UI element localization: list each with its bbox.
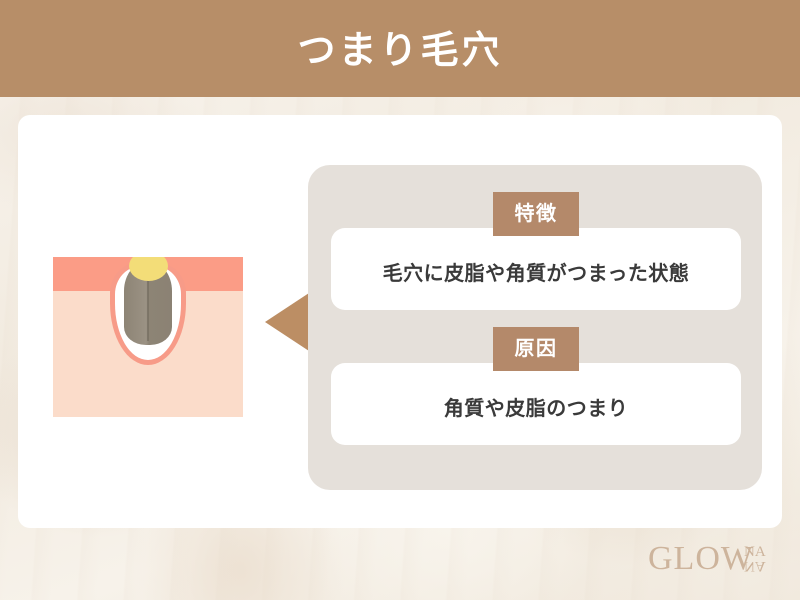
info-panel: 毛穴に皮脂や角質がつまった状態 特徴 角質や皮脂のつまり 原因 [308, 165, 762, 490]
logo-wordmark: GLOW [648, 542, 754, 576]
info-card-text: 角質や皮脂のつまり [444, 399, 629, 419]
info-card-text: 毛穴に皮脂や角質がつまった状態 [383, 264, 690, 284]
info-card: 毛穴に皮脂や角質がつまった状態 [331, 228, 741, 310]
logo-subword: NA NA [744, 546, 766, 572]
page-title: つまり毛穴 [297, 32, 502, 70]
info-card: 角質や皮脂のつまり [331, 363, 741, 445]
brand-logo: GLOW NA NA [648, 540, 788, 586]
badge-characteristics: 特徴 [493, 192, 579, 236]
header-band: つまり毛穴 [0, 0, 800, 97]
sebum-plug-seam [147, 271, 149, 341]
badge-label: 原因 [515, 339, 558, 359]
arrow-left-icon [265, 293, 309, 351]
clogged-pore-illustration [53, 257, 243, 417]
slide-root: つまり毛穴 毛穴に皮脂や角質がつまった状態 特徴 角質や皮脂のつまり [0, 0, 800, 600]
badge-cause: 原因 [493, 327, 579, 371]
badge-label: 特徴 [515, 204, 558, 224]
logo-subword-bottom: NA [744, 559, 766, 572]
